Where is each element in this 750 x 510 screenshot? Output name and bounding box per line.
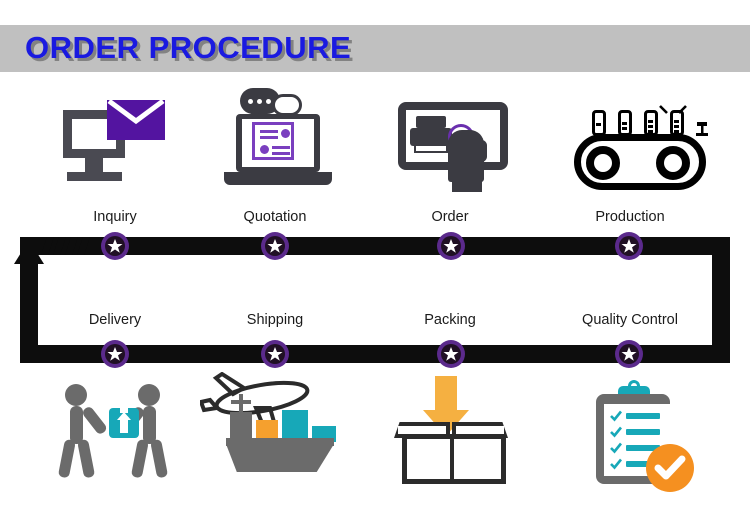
person-leg	[77, 439, 95, 478]
step-label-packing: Packing	[390, 312, 510, 328]
person-torso	[143, 406, 156, 444]
machine-icon	[694, 120, 710, 138]
quote-document-card	[252, 122, 294, 160]
person-arm	[81, 405, 108, 435]
belt-roller	[656, 146, 690, 180]
arrow-into-box-icon	[390, 372, 520, 492]
step-label-delivery: Delivery	[55, 312, 175, 328]
checklist-line	[626, 429, 660, 435]
laptop-chat-icon	[222, 88, 342, 188]
product-item	[644, 110, 658, 136]
ship-cabin	[230, 412, 252, 440]
ship-hull	[226, 444, 334, 472]
product-item	[618, 110, 632, 136]
ship-mast	[239, 394, 243, 414]
carton-seam	[450, 434, 454, 484]
step-label-quotation: Quotation	[215, 209, 335, 225]
check-mark-icon	[646, 444, 694, 492]
star-node-icon[interactable]	[101, 340, 129, 368]
hand-icon	[448, 130, 484, 182]
check-mark-icon	[610, 410, 622, 422]
star-node-icon[interactable]	[261, 232, 289, 260]
checklist-line	[626, 413, 660, 419]
person-head	[65, 384, 87, 406]
carton-flap-left	[394, 422, 450, 438]
printer-top	[416, 116, 446, 128]
star-node-icon[interactable]	[615, 340, 643, 368]
person-leg	[150, 439, 168, 478]
star-node-icon[interactable]	[437, 340, 465, 368]
laptop-keyboard-base	[224, 172, 332, 185]
ship-mast-crossbar	[231, 400, 251, 404]
step-label-production: Production	[565, 209, 695, 225]
conveyor-belt-icon	[570, 96, 720, 192]
envelope-flap-icon	[107, 100, 165, 128]
order-procedure-infographic: ORDER PROCEDURE	[0, 0, 750, 510]
speech-bubble-outline-icon	[272, 94, 302, 116]
clipboard-checklist-icon	[582, 378, 712, 498]
robot-arm-icon	[658, 104, 688, 122]
step-label-inquiry: Inquiry	[55, 209, 175, 225]
carton-flap-right	[452, 422, 508, 438]
tablet-printer-tap-icon	[392, 92, 516, 192]
person-leg	[58, 439, 76, 478]
check-mark-icon	[610, 426, 622, 438]
product-item	[592, 110, 606, 136]
star-node-icon[interactable]	[437, 232, 465, 260]
star-node-icon[interactable]	[101, 232, 129, 260]
approved-badge	[646, 444, 694, 492]
hand-wrist	[452, 176, 482, 192]
plane-cargo-ship-icon	[200, 372, 370, 494]
page-title: ORDER PROCEDURE	[25, 30, 351, 66]
handover-box-icon	[55, 378, 195, 496]
check-mark-icon	[610, 442, 622, 454]
person-torso	[70, 406, 83, 444]
step-label-quality-control: Quality Control	[560, 312, 700, 328]
monitor-envelope-icon	[55, 96, 175, 188]
step-label-order: Order	[390, 209, 510, 225]
star-node-icon[interactable]	[261, 340, 289, 368]
monitor-neck	[85, 158, 103, 172]
star-node-icon[interactable]	[615, 232, 643, 260]
person-head	[138, 384, 160, 406]
carton-body	[402, 434, 506, 484]
envelope-shape	[107, 100, 165, 140]
flow-track-left	[20, 258, 38, 363]
belt-roller	[586, 146, 620, 180]
check-mark-icon	[610, 458, 622, 470]
monitor-base	[67, 172, 122, 181]
up-arrow-icon	[14, 240, 44, 264]
speed-dashes-icon	[44, 237, 92, 255]
down-arrow-stem	[435, 376, 457, 412]
parcel-box	[109, 408, 139, 438]
person-leg	[131, 439, 149, 478]
printer-paper-tray	[414, 144, 448, 153]
step-label-shipping: Shipping	[215, 312, 335, 328]
